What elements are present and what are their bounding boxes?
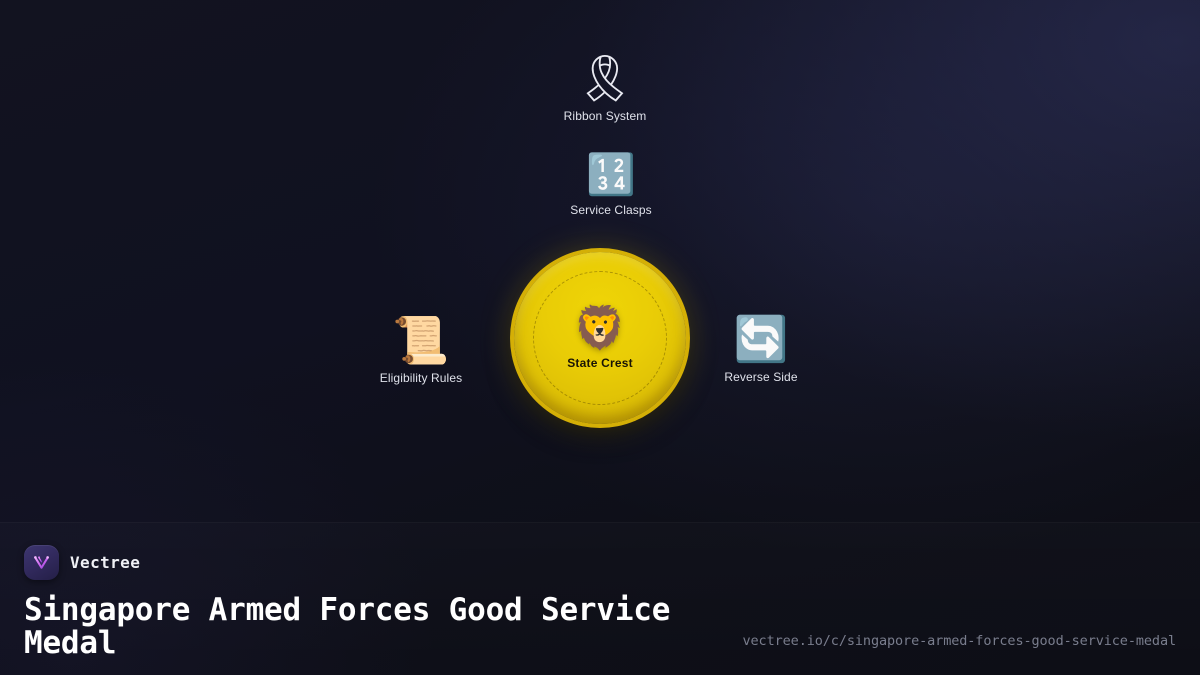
graph-node-ribbon-system[interactable]: 🎗 Ribbon System [564, 55, 647, 123]
medal-label: State Crest [567, 356, 633, 370]
graph-node-label: Ribbon System [564, 109, 647, 123]
input-numbers-icon: 🔢 [586, 155, 636, 195]
ribbon-icon: 🎗 [576, 55, 634, 101]
footer: Vectree Singapore Armed Forces Good Serv… [0, 522, 1200, 675]
concept-graph: 🎗 Ribbon System 🔢 Service Clasps 📜 Eligi… [0, 0, 1200, 520]
graph-node-label: Service Clasps [570, 203, 651, 217]
graph-center-node-state-crest[interactable]: 🦁 State Crest [514, 252, 686, 424]
page-url: vectree.io/c/singapore-armed-forces-good… [743, 633, 1177, 649]
medal-content: 🦁 State Crest [567, 307, 633, 370]
graph-node-label: Reverse Side [724, 370, 797, 384]
brand[interactable]: Vectree [24, 545, 1176, 580]
arrows-counterclockwise-icon: 🔄 [734, 318, 789, 362]
graph-node-eligibility-rules[interactable]: 📜 Eligibility Rules [380, 317, 462, 385]
graph-node-label: Eligibility Rules [380, 371, 462, 385]
graph-node-service-clasps[interactable]: 🔢 Service Clasps [570, 155, 651, 217]
scroll-icon: 📜 [392, 317, 449, 363]
page-title: Singapore Armed Forces Good Service Meda… [24, 594, 684, 661]
lion-face-icon: 🦁 [574, 307, 626, 349]
infographic-canvas: 🎗 Ribbon System 🔢 Service Clasps 📜 Eligi… [0, 0, 1200, 675]
graph-node-reverse-side[interactable]: 🔄 Reverse Side [724, 318, 797, 384]
brand-name: Vectree [70, 553, 140, 572]
vectree-logo-icon [24, 545, 59, 580]
